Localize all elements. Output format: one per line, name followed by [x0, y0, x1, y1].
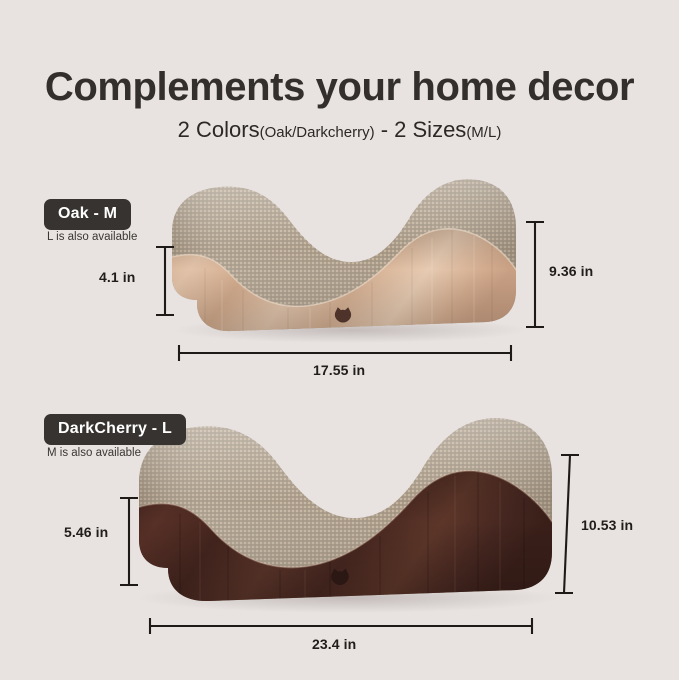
page-subtitle: 2 Colors(Oak/Darkcherry) - 2 Sizes(M/L)	[0, 109, 679, 141]
dimension-label-cherry-width: 23.4 in	[312, 636, 356, 652]
oak-wood-base	[168, 229, 520, 345]
subtitle-colors-main: 2 Colors	[178, 117, 260, 142]
cherry-wood-base	[136, 470, 556, 615]
cat-face-icon	[331, 569, 348, 586]
badge-darkcherry-l[interactable]: DarkCherry - L	[44, 414, 186, 445]
badge-note-darkcherry: M is also available	[47, 447, 141, 459]
cherry-dimension-lines	[120, 455, 579, 634]
subtitle-sizes-paren: (M/L)	[466, 124, 501, 141]
badge-oak-m[interactable]: Oak - M	[44, 199, 131, 230]
cat-face-icon	[335, 307, 351, 322]
dimension-label-oak-width: 17.55 in	[313, 362, 365, 378]
header-block: Complements your home decor 2 Colors(Oak…	[0, 0, 679, 141]
oak-ground-shadow	[172, 317, 528, 343]
dimension-label-cherry-depth: 10.53 in	[581, 517, 633, 533]
subtitle-sizes-main: - 2 Sizes	[375, 117, 467, 142]
dimension-label-oak-height: 4.1 in	[99, 269, 135, 285]
cherry-ground-shadow	[136, 583, 560, 613]
dimension-label-oak-depth: 9.36 in	[549, 263, 593, 279]
dimension-label-cherry-height: 5.46 in	[64, 524, 108, 540]
page-title: Complements your home decor	[0, 0, 679, 109]
oak-dimension-lines	[156, 222, 544, 361]
product-oak-m	[160, 170, 530, 345]
infographic-canvas: Complements your home decor 2 Colors(Oak…	[0, 0, 679, 680]
subtitle-colors-paren: (Oak/Darkcherry)	[260, 124, 375, 141]
badge-note-oak: L is also available	[47, 231, 137, 243]
product-darkcherry-l	[130, 410, 565, 615]
